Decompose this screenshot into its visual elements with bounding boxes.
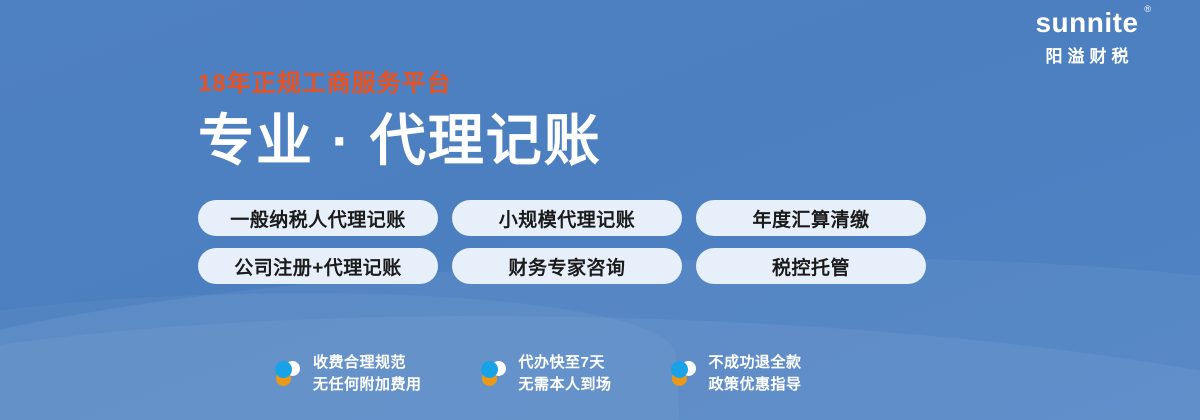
service-pill[interactable]: 小规模代理记账 — [452, 200, 682, 236]
feature-line-2: 政策优惠指导 — [709, 376, 802, 393]
service-pill[interactable]: 一般纳税人代理记账 — [198, 200, 438, 236]
promo-banner: sunnite ® 阳溢财税 18年正规工商服务平台 专业 · 代理记账 一般纳… — [0, 0, 1200, 420]
blue-circle-shape — [275, 361, 292, 378]
background-wave-left — [0, 270, 687, 420]
feature-item: 收费合理规范 无任何附加费用 — [274, 352, 422, 396]
registered-trademark-icon: ® — [1144, 5, 1151, 14]
brand-logo[interactable]: sunnite ® 阳溢财税 — [992, 8, 1182, 67]
hero-heading-group: 18年正规工商服务平台 专业 · 代理记账 — [198, 70, 602, 173]
service-pill[interactable]: 年度汇算清缴 — [696, 200, 926, 236]
blue-circle-shape — [671, 361, 688, 378]
service-pill[interactable]: 公司注册+代理记账 — [198, 248, 438, 284]
hero-headline: 专业 · 代理记账 — [198, 109, 602, 173]
dual-circle-icon — [480, 359, 508, 389]
feature-line-1: 收费合理规范 — [313, 354, 406, 371]
feature-line-1: 不成功退全款 — [709, 354, 802, 371]
feature-line-1: 代办快至7天 — [519, 354, 605, 371]
feature-item: 代办快至7天 无需本人到场 — [480, 352, 612, 396]
dual-circle-icon — [274, 359, 302, 389]
feature-text: 不成功退全款 政策优惠指导 — [709, 352, 802, 396]
blue-circle-shape — [481, 361, 498, 378]
service-pill[interactable]: 财务专家咨询 — [452, 248, 682, 284]
service-pill-grid: 一般纳税人代理记账 小规模代理记账 年度汇算清缴 公司注册+代理记账 财务专家咨… — [198, 200, 926, 284]
feature-line-2: 无需本人到场 — [519, 376, 612, 393]
feature-item: 不成功退全款 政策优惠指导 — [670, 352, 802, 396]
hero-eyebrow: 18年正规工商服务平台 — [198, 70, 602, 99]
brand-logo-subtitle: 阳溢财税 — [992, 42, 1182, 67]
dual-circle-icon — [670, 359, 698, 389]
feature-list: 收费合理规范 无任何附加费用 代办快至7天 无需本人到场 不成功退全款 — [274, 352, 802, 396]
feature-line-2: 无任何附加费用 — [313, 376, 422, 393]
feature-text: 代办快至7天 无需本人到场 — [519, 352, 612, 396]
feature-text: 收费合理规范 无任何附加费用 — [313, 352, 422, 396]
brand-logo-wordmark: sunnite ® — [1035, 8, 1138, 37]
brand-logo-text: sunnite — [1035, 7, 1138, 38]
service-pill[interactable]: 税控托管 — [696, 248, 926, 284]
